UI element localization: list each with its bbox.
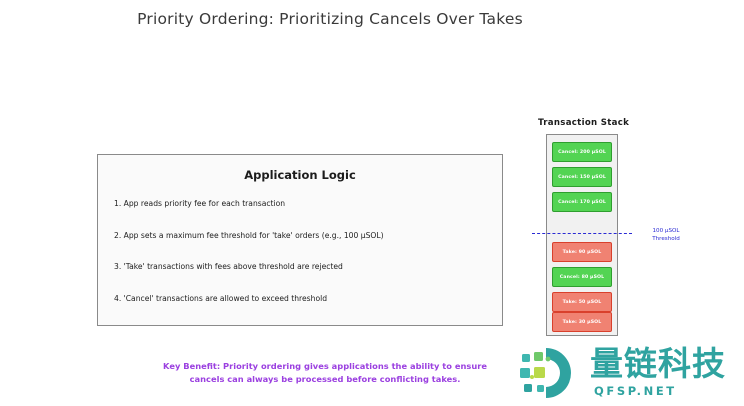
application-logic-list: 1. App reads priority fee for each trans… bbox=[114, 199, 492, 325]
list-item: 3. 'Take' transactions with fees above t… bbox=[114, 262, 492, 271]
key-benefit-text: Key Benefit: Priority ordering gives app… bbox=[120, 360, 530, 386]
watermark-logo: 量链科技 QFSP.NET bbox=[516, 344, 738, 402]
watermark-domain: QFSP.NET bbox=[594, 384, 677, 398]
transaction-box: Cancel: 200 µSOL bbox=[552, 142, 612, 162]
watermark-brand-name: 量链科技 bbox=[590, 344, 726, 384]
key-benefit-line-2: cancels can always be processed before c… bbox=[120, 373, 530, 386]
threshold-label: 100 µSOL Threshold bbox=[636, 227, 696, 243]
transaction-box: Take: 50 µSOL bbox=[552, 292, 612, 312]
transaction-box: Cancel: 170 µSOL bbox=[552, 192, 612, 212]
page-title: Priority Ordering: Prioritizing Cancels … bbox=[0, 10, 660, 28]
application-logic-panel: Application Logic 1. App reads priority … bbox=[97, 154, 503, 326]
transaction-box: Cancel: 150 µSOL bbox=[552, 167, 612, 187]
transaction-box: Cancel: 80 µSOL bbox=[552, 267, 612, 287]
transaction-stack-container: Cancel: 200 µSOL Cancel: 150 µSOL Cancel… bbox=[546, 134, 618, 336]
transaction-box: Take: 90 µSOL bbox=[552, 242, 612, 262]
threshold-line bbox=[532, 233, 632, 234]
application-logic-heading: Application Logic bbox=[98, 168, 502, 182]
logo-mark-icon bbox=[516, 344, 586, 402]
threshold-value: 100 µSOL bbox=[636, 227, 696, 235]
key-benefit-line-1: Key Benefit: Priority ordering gives app… bbox=[120, 360, 530, 373]
threshold-caption: Threshold bbox=[636, 235, 696, 243]
list-item: 4. 'Cancel' transactions are allowed to … bbox=[114, 294, 492, 303]
list-item: 2. App sets a maximum fee threshold for … bbox=[114, 231, 492, 240]
transaction-stack-title: Transaction Stack bbox=[538, 118, 629, 128]
transaction-box: Take: 30 µSOL bbox=[552, 312, 612, 332]
list-item: 1. App reads priority fee for each trans… bbox=[114, 199, 492, 208]
